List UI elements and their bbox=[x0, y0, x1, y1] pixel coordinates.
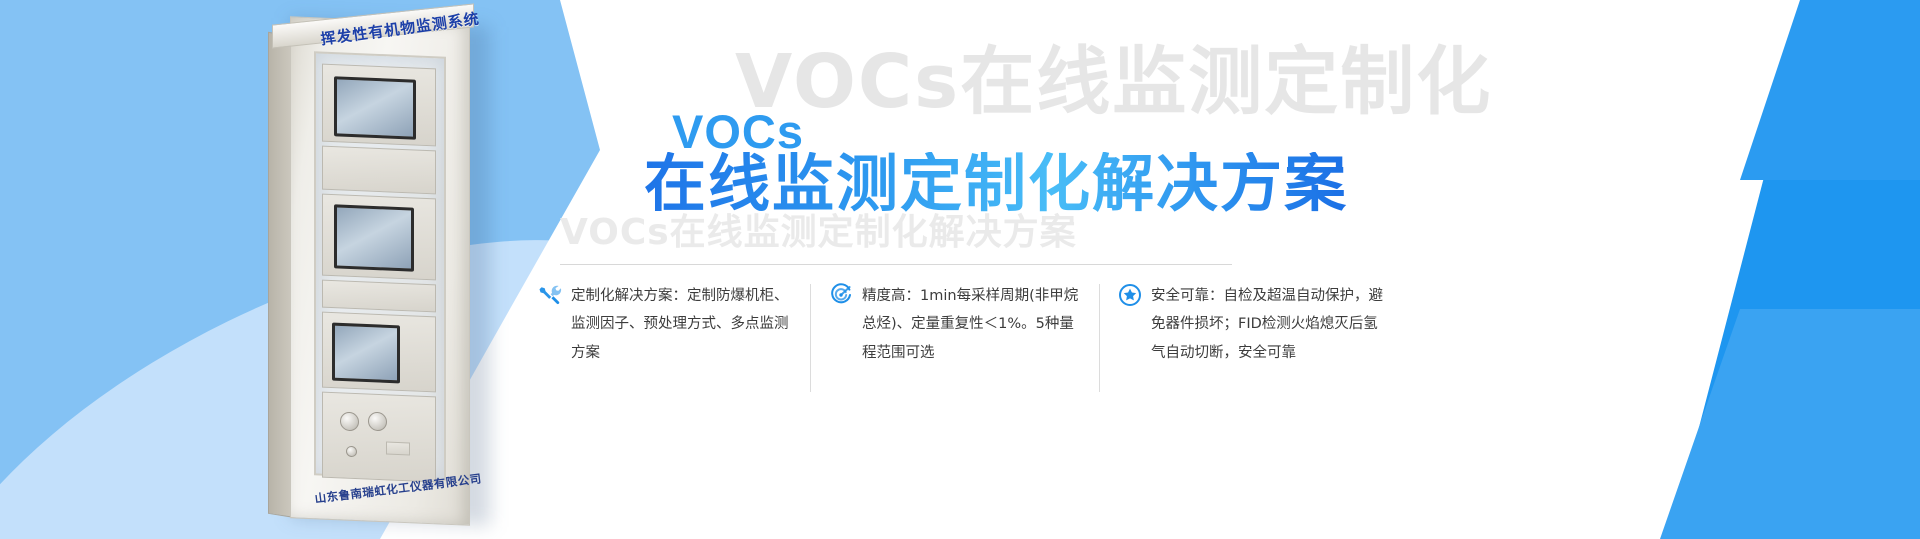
feature-item-accuracy: 精度高：1min每采样周期(非甲烷总烃)、定量重复性＜1%。5种量程范围可选 bbox=[811, 282, 1099, 367]
watermark-headline-large: VOCs在线监测定制化 bbox=[735, 45, 1492, 119]
star-shield-icon bbox=[1118, 283, 1142, 307]
cabinet-panel-4 bbox=[322, 280, 436, 313]
cabinet-display-1 bbox=[334, 76, 416, 139]
cabinet-panel-6 bbox=[322, 392, 436, 483]
cabinet-gauge-2 bbox=[368, 412, 387, 432]
cabinet-port bbox=[386, 441, 410, 455]
headline-chinese: 在线监测定制化解决方案 bbox=[644, 152, 1348, 217]
product-photo-voc-cabinet: 挥发性有机物监测系统 山东鲁南瑞虹化工仪器有限公司 bbox=[268, 8, 498, 528]
cabinet-knob-1 bbox=[346, 446, 357, 457]
headline-english: VOCs bbox=[672, 108, 804, 155]
promo-banner: VOCs在线监测定制化 VOCs在线监测定制化解决方案 挥发性有机物监测系统 山… bbox=[0, 0, 1920, 539]
feature-text: 安全可靠：自检及超温自动保护，避免器件损坏；FID检测火焰熄灭后氢气自动切断，安… bbox=[1151, 282, 1392, 367]
cabinet-display-3 bbox=[332, 323, 400, 384]
cabinet-display-2 bbox=[334, 204, 414, 271]
target-accuracy-icon bbox=[829, 283, 853, 307]
wrench-tools-icon bbox=[538, 283, 562, 307]
feature-item-safety: 安全可靠：自检及超温自动保护，避免器件损坏；FID检测火焰熄灭后氢气自动切断，安… bbox=[1100, 282, 1410, 367]
cabinet-panel-2 bbox=[322, 146, 436, 195]
feature-list: 定制化解决方案：定制防爆机柜、监测因子、预处理方式、多点监测方案 精度高：1mi… bbox=[520, 282, 1640, 392]
headline-divider bbox=[560, 264, 1232, 265]
feature-text: 定制化解决方案：定制防爆机柜、监测因子、预处理方式、多点监测方案 bbox=[571, 282, 792, 367]
feature-text: 精度高：1min每采样周期(非甲烷总烃)、定量重复性＜1%。5种量程范围可选 bbox=[862, 282, 1081, 367]
cabinet-gauge-1 bbox=[340, 412, 359, 432]
feature-item-customization: 定制化解决方案：定制防爆机柜、监测因子、预处理方式、多点监测方案 bbox=[520, 282, 810, 367]
watermark-headline-small: VOCs在线监测定制化解决方案 bbox=[560, 215, 1077, 251]
